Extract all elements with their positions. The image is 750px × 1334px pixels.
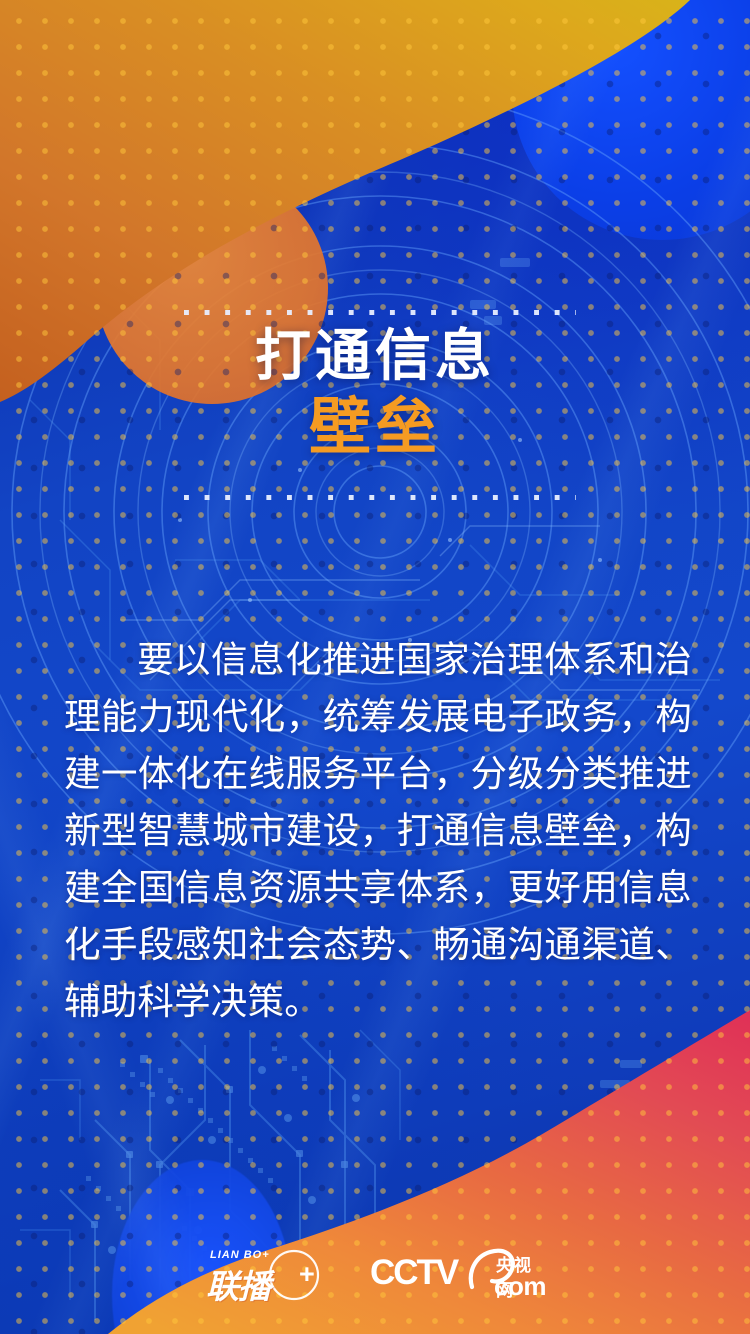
cctv-wordmark: CCTV	[370, 1255, 457, 1290]
lianbo-chinese-text: 联播	[206, 1260, 270, 1308]
lianbo-logo[interactable]: LIAN BO+ 联播 +	[202, 1248, 340, 1302]
poster-canvas: 打通信息 壁垒 要以信息化推进国家治理体系和治理能力现代化，统筹发展电子政务，构…	[0, 0, 750, 1334]
headline-line-2: 壁垒	[0, 395, 750, 461]
headline-line-1: 打通信息	[0, 326, 750, 385]
body-paragraph: 要以信息化推进国家治理体系和治理能力现代化，统筹发展电子政务，构建一体化在线服务…	[64, 631, 692, 1030]
cctv-com-text: com	[494, 1271, 546, 1302]
poster-content: 打通信息 壁垒 要以信息化推进国家治理体系和治理能力现代化，统筹发展电子政务，构…	[0, 0, 750, 1334]
footer-logos: LIAN BO+ 联播 + CCTV 央视网 com	[0, 1244, 750, 1306]
divider-dotted-top	[184, 310, 576, 315]
cctv-logo[interactable]: CCTV 央视网 com	[370, 1249, 548, 1301]
lianbo-plus-text: +	[299, 1259, 315, 1290]
page-title: 打通信息 壁垒	[0, 326, 750, 461]
divider-dotted-bottom	[184, 495, 576, 500]
